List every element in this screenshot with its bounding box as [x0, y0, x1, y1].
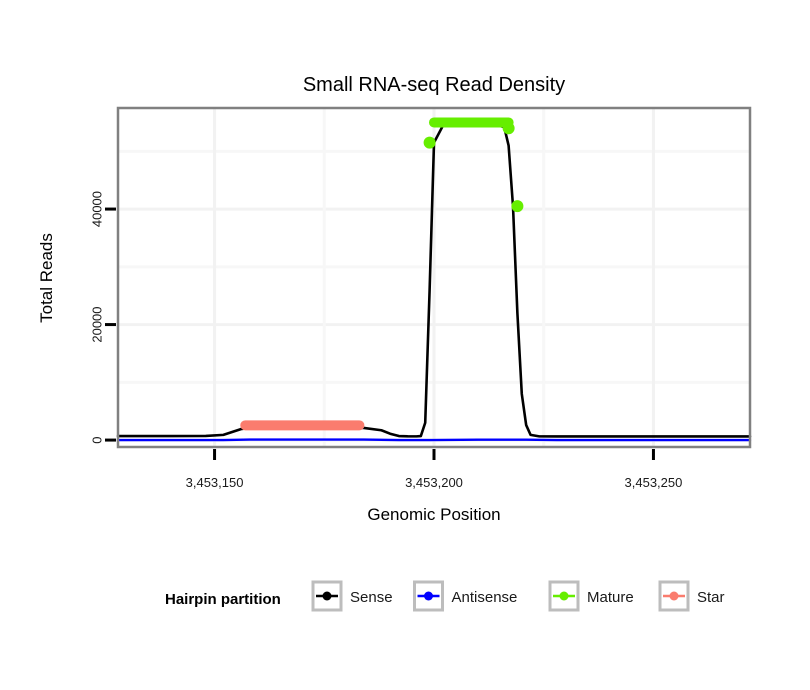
- chart-title: Small RNA-seq Read Density: [303, 74, 565, 96]
- legend-key-point: [424, 592, 433, 601]
- y-tick-label: 0: [89, 436, 104, 443]
- series-point-mature: [424, 137, 436, 149]
- y-tick-label: 20000: [89, 306, 104, 342]
- legend-key-point: [670, 592, 679, 601]
- legend-item-label: Star: [697, 589, 725, 606]
- x-tick-label: 3,453,250: [625, 475, 683, 490]
- legend-item-label: Antisense: [452, 589, 518, 606]
- x-tick-label: 3,453,200: [405, 475, 463, 490]
- y-axis-title: Total Reads: [37, 233, 56, 323]
- legend-item-label: Mature: [587, 589, 634, 606]
- legend-item-label: Sense: [350, 589, 393, 606]
- x-tick-label: 3,453,150: [186, 475, 244, 490]
- x-axis-title: Genomic Position: [367, 505, 500, 524]
- read-density-chart: Small RNA-seq Read Density 3,453,1503,45…: [0, 0, 810, 690]
- legend-key-point: [323, 592, 332, 601]
- legend-title: Hairpin partition: [165, 591, 281, 608]
- y-tick-label: 40000: [89, 191, 104, 227]
- chart-figure: Small RNA-seq Read Density 3,453,1503,45…: [0, 0, 810, 690]
- legend-key-point: [560, 592, 569, 601]
- series-point-mature: [503, 122, 515, 134]
- series-point-mature: [511, 200, 523, 212]
